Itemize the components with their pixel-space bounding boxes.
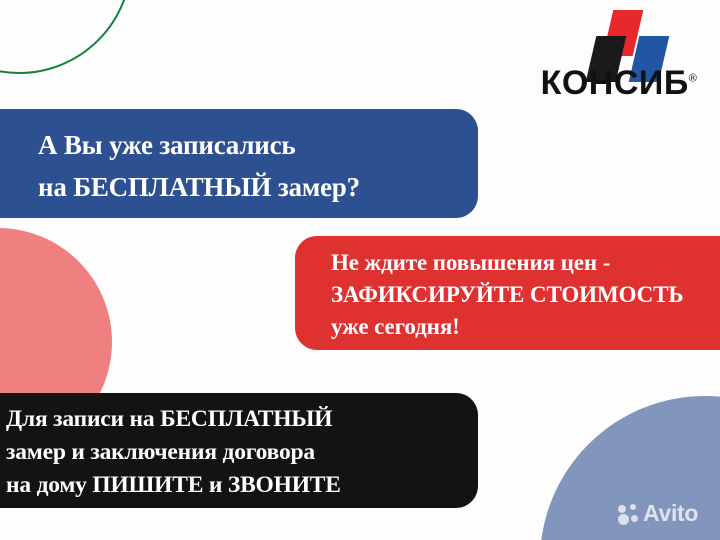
message-black-line-1: Для записи на БЕСПЛАТНЫЙ [6, 403, 478, 436]
message-red-line-1: Не ждите повышения цен - [331, 247, 720, 279]
advertisement-poster: КОНСИБ® А Вы уже записались на БЕСПЛАТНЫ… [0, 0, 720, 540]
message-block-red: Не ждите повышения цен - ЗАФИКСИРУЙТЕ СТ… [295, 236, 720, 350]
headline-block-blue: А Вы уже записались на БЕСПЛАТНЫЙ замер? [0, 109, 478, 218]
avito-dots-icon [618, 504, 640, 524]
message-red-line-2: ЗАФИКСИРУЙТЕ СТОИМОСТЬ [331, 279, 720, 311]
avito-wordmark: Avito [643, 500, 698, 527]
headline-blue-line-2: на БЕСПЛАТНЫЙ замер? [38, 166, 478, 208]
message-block-black: Для записи на БЕСПЛАТНЫЙ замер и заключе… [0, 393, 478, 508]
logo-wordmark-text: КОНСИБ [541, 64, 689, 102]
green-ring-decoration [0, 0, 132, 74]
message-red-line-3: уже сегодня! [331, 311, 720, 343]
message-black-line-3: на дому ПИШИТЕ и ЗВОНИТЕ [6, 469, 478, 502]
headline-blue-line-1: А Вы уже записались [38, 124, 478, 166]
registered-trademark-icon: ® [689, 73, 698, 85]
avito-watermark: Avito [618, 500, 698, 527]
konsib-logo: КОНСИБ® [531, 8, 707, 110]
logo-mark-group [531, 8, 707, 66]
message-black-line-2: замер и заключения договора [6, 436, 478, 469]
logo-wordmark: КОНСИБ® [531, 64, 707, 103]
